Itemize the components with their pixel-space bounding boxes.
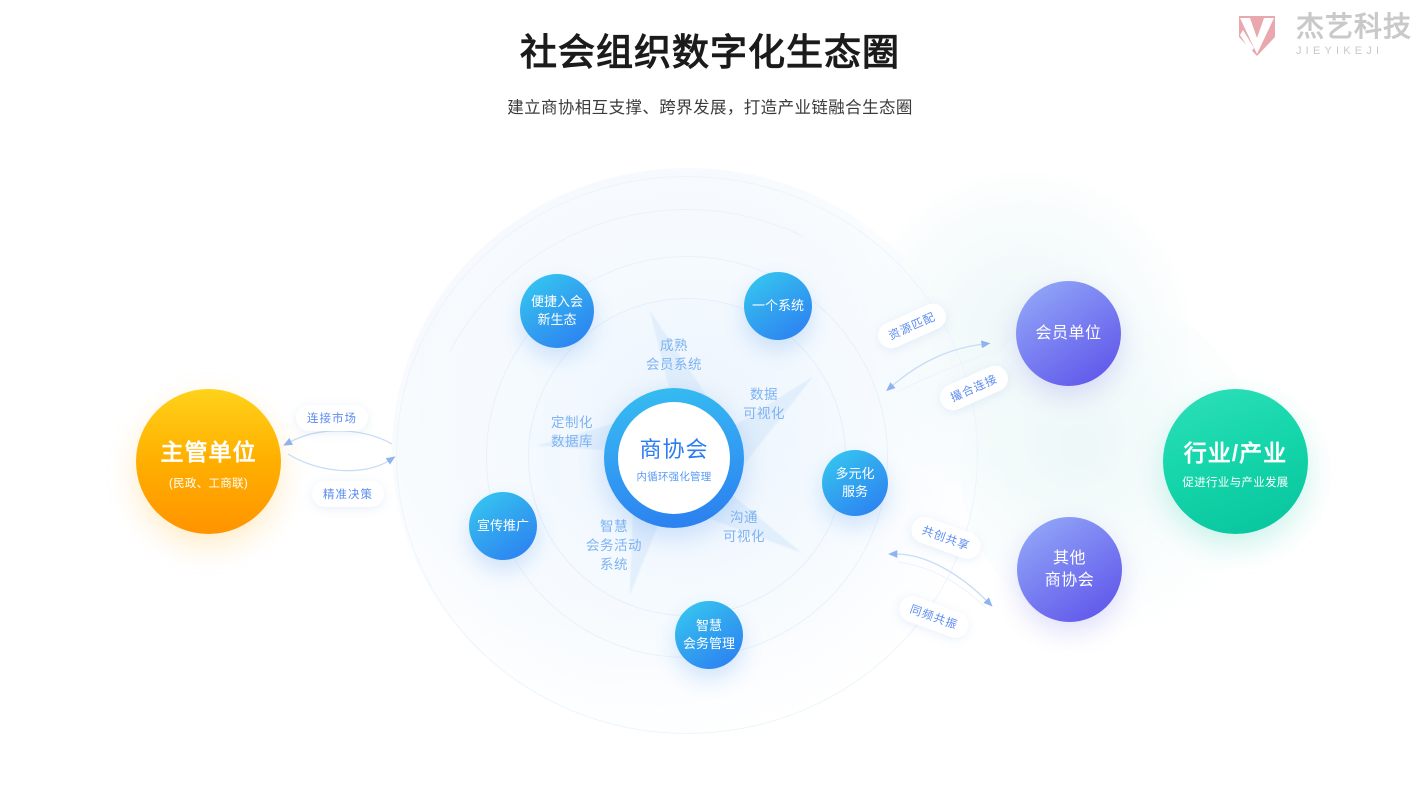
center-subtitle: 内循环强化管理 — [637, 469, 712, 484]
diagram-canvas: 社会组织数字化生态圈 建立商协相互支撑、跨界发展，打造产业链融合生态圈 杰艺科技… — [0, 0, 1420, 792]
connector-label-precise-decision: 精准决策 — [312, 481, 384, 507]
bubble-one-system[interactable]: 一个系统 — [744, 272, 812, 340]
logo-name-en: JIEYIKEJI — [1296, 46, 1412, 57]
bubble-smart-event-management[interactable]: 智慧 会务管理 — [675, 601, 743, 669]
center-node[interactable]: 商协会 内循环强化管理 — [604, 388, 744, 528]
node-supervising-unit-title: 主管单位 — [161, 433, 257, 467]
connector-label-connect-market: 连接市场 — [296, 405, 368, 431]
node-industry[interactable]: 行业/产业 促进行业与产业发展 — [1163, 389, 1308, 534]
center-title: 商协会 — [639, 432, 708, 464]
logo-name-cn: 杰艺科技 — [1296, 13, 1412, 41]
node-supervising-unit[interactable]: 主管单位 (民政、工商联) — [136, 389, 281, 534]
inner-label-data-visualization: 数据 可视化 — [726, 385, 802, 423]
node-member-unit[interactable]: 会员单位 — [1016, 281, 1121, 386]
node-other-associations-title: 其他 商协会 — [1045, 548, 1095, 592]
inner-label-communication-visualization: 沟通 可视化 — [706, 508, 782, 546]
logo-mark-icon — [1226, 4, 1288, 66]
node-industry-title: 行业/产业 — [1184, 434, 1287, 468]
node-member-unit-title: 会员单位 — [1035, 323, 1101, 345]
node-industry-subtitle: 促进行业与产业发展 — [1182, 474, 1288, 490]
brand-logo: 杰艺科技 JIEYIKEJI — [1226, 4, 1412, 66]
node-other-associations[interactable]: 其他 商协会 — [1017, 517, 1122, 622]
page-title: 社会组织数字化生态圈 — [0, 22, 1420, 76]
bubble-diverse-services[interactable]: 多元化 服务 — [822, 450, 888, 516]
node-supervising-unit-subtitle: (民政、工商联) — [169, 475, 248, 491]
inner-label-smart-event-system: 智慧 会务活动 系统 — [566, 517, 662, 574]
logo-text: 杰艺科技 JIEYIKEJI — [1296, 13, 1412, 57]
bubble-easy-join[interactable]: 便捷入会 新生态 — [520, 274, 594, 348]
page-subtitle: 建立商协相互支撑、跨界发展，打造产业链融合生态圈 — [0, 94, 1420, 118]
center-node-inner: 商协会 内循环强化管理 — [618, 402, 730, 514]
inner-label-member-system: 成熟 会员系统 — [626, 336, 722, 374]
inner-label-custom-database: 定制化 数据库 — [534, 413, 610, 451]
bubble-promotion[interactable]: 宣传推广 — [469, 492, 537, 560]
